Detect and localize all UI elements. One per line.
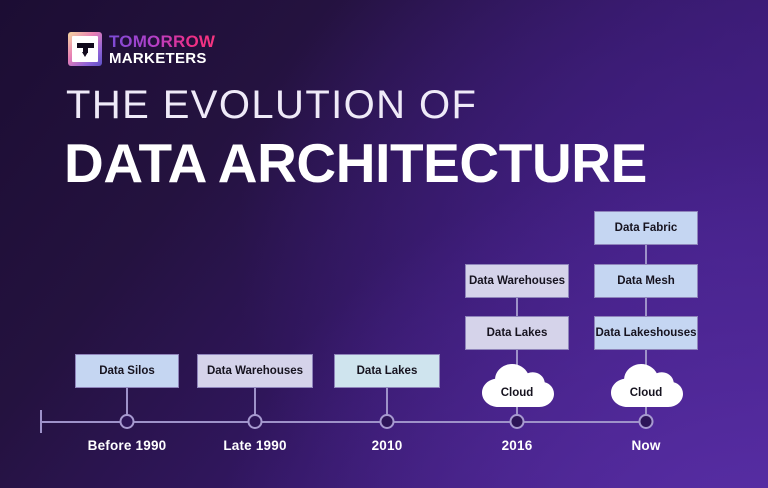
architecture-chip[interactable]: Data Silos — [75, 354, 179, 388]
timeline-date-label: Now — [631, 438, 660, 453]
cloud-label: Cloud — [607, 387, 685, 399]
architecture-chip[interactable]: Data Warehouses — [465, 264, 569, 298]
timeline-dot[interactable] — [510, 414, 525, 429]
architecture-chip[interactable]: Data Warehouses — [197, 354, 313, 388]
timeline-date-label: Late 1990 — [223, 438, 286, 453]
timeline-dot[interactable] — [639, 414, 654, 429]
infographic-canvas: TOMORROW MARKETERS THE EVOLUTION OF DATA… — [0, 0, 768, 488]
brand-logo: TOMORROW MARKETERS — [68, 32, 215, 66]
cloud-icon[interactable]: Cloud — [607, 360, 685, 410]
architecture-chip[interactable]: Data Lakes — [465, 316, 569, 350]
timeline-dot[interactable] — [380, 414, 395, 429]
timeline-dot[interactable] — [120, 414, 135, 429]
cloud-icon[interactable]: Cloud — [478, 360, 556, 410]
timeline-date-label: 2010 — [372, 438, 403, 453]
page-title: DATA ARCHITECTURE — [64, 131, 647, 195]
tm-monogram-icon — [68, 32, 102, 66]
timeline-start-cap — [40, 410, 42, 433]
brand-name-bottom: MARKETERS — [109, 51, 215, 66]
architecture-chip[interactable]: Data Mesh — [594, 264, 698, 298]
timeline-date-label: 2016 — [502, 438, 533, 453]
architecture-chip[interactable]: Data Fabric — [594, 211, 698, 245]
architecture-chip[interactable]: Data Lakeshouses — [594, 316, 698, 350]
timeline-dot[interactable] — [248, 414, 263, 429]
timeline-date-label: Before 1990 — [88, 438, 167, 453]
page-subtitle: THE EVOLUTION OF — [66, 83, 477, 128]
brand-name-top: TOMORROW — [109, 33, 215, 50]
cloud-label: Cloud — [478, 387, 556, 399]
architecture-chip[interactable]: Data Lakes — [334, 354, 440, 388]
